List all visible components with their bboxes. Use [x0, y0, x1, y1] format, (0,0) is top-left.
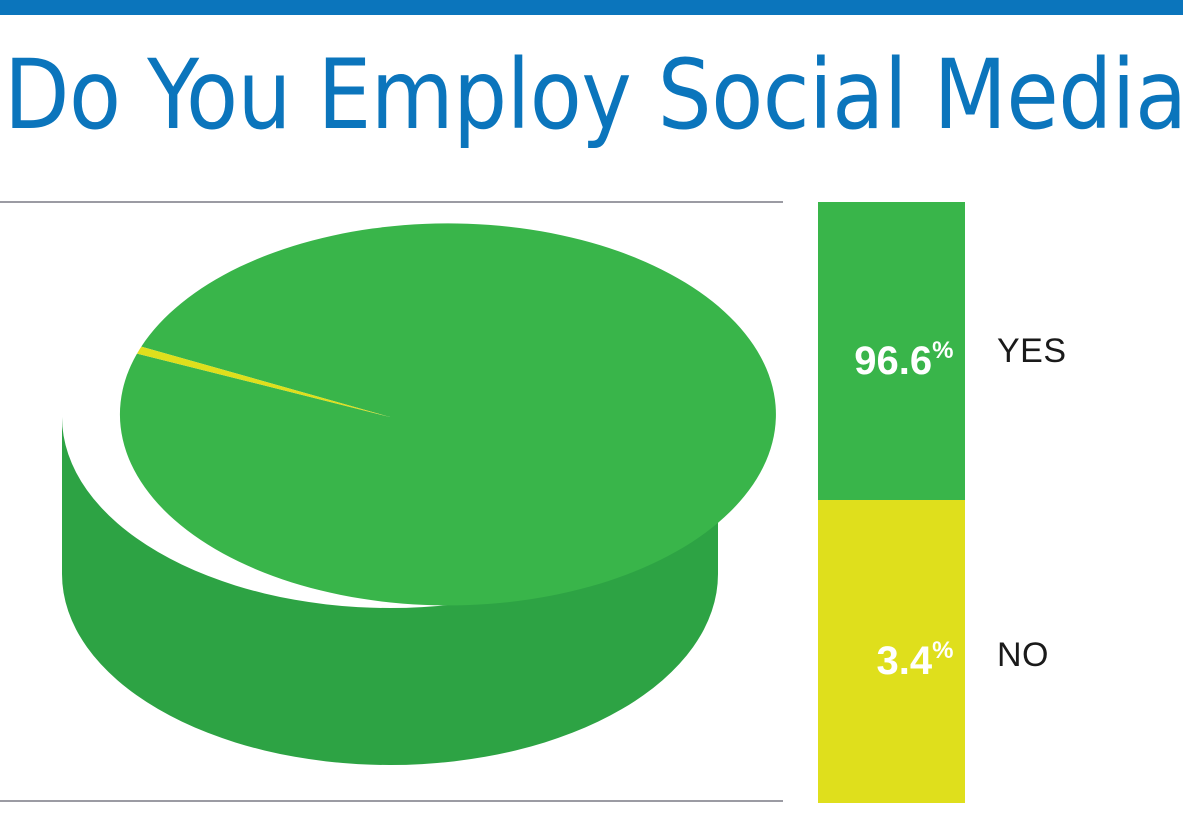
- bar-segment-no: 3.4%: [818, 500, 965, 803]
- bar-label-no: NO: [997, 638, 1049, 672]
- divider-top: [0, 201, 783, 203]
- bar-value-no: 3.4%: [877, 631, 953, 681]
- top-accent-bar: [0, 0, 1183, 15]
- bar-value-yes: 96.6%: [854, 331, 953, 381]
- bar-label-yes: YES: [997, 334, 1067, 368]
- page-title: Do You Employ Social Media?: [4, 36, 1166, 156]
- pie-chart: [40, 205, 780, 795]
- percent-sign-no: %: [932, 637, 953, 664]
- bar-segment-yes: 96.6%: [818, 202, 965, 500]
- bar-value-no-number: 3.4: [877, 639, 933, 683]
- pie-slice-yes: [120, 223, 776, 605]
- stacked-bar-chart: 96.6% 3.4%: [818, 202, 965, 803]
- bar-value-yes-number: 96.6: [854, 339, 932, 383]
- divider-bottom: [0, 800, 783, 802]
- percent-sign-yes: %: [932, 337, 953, 364]
